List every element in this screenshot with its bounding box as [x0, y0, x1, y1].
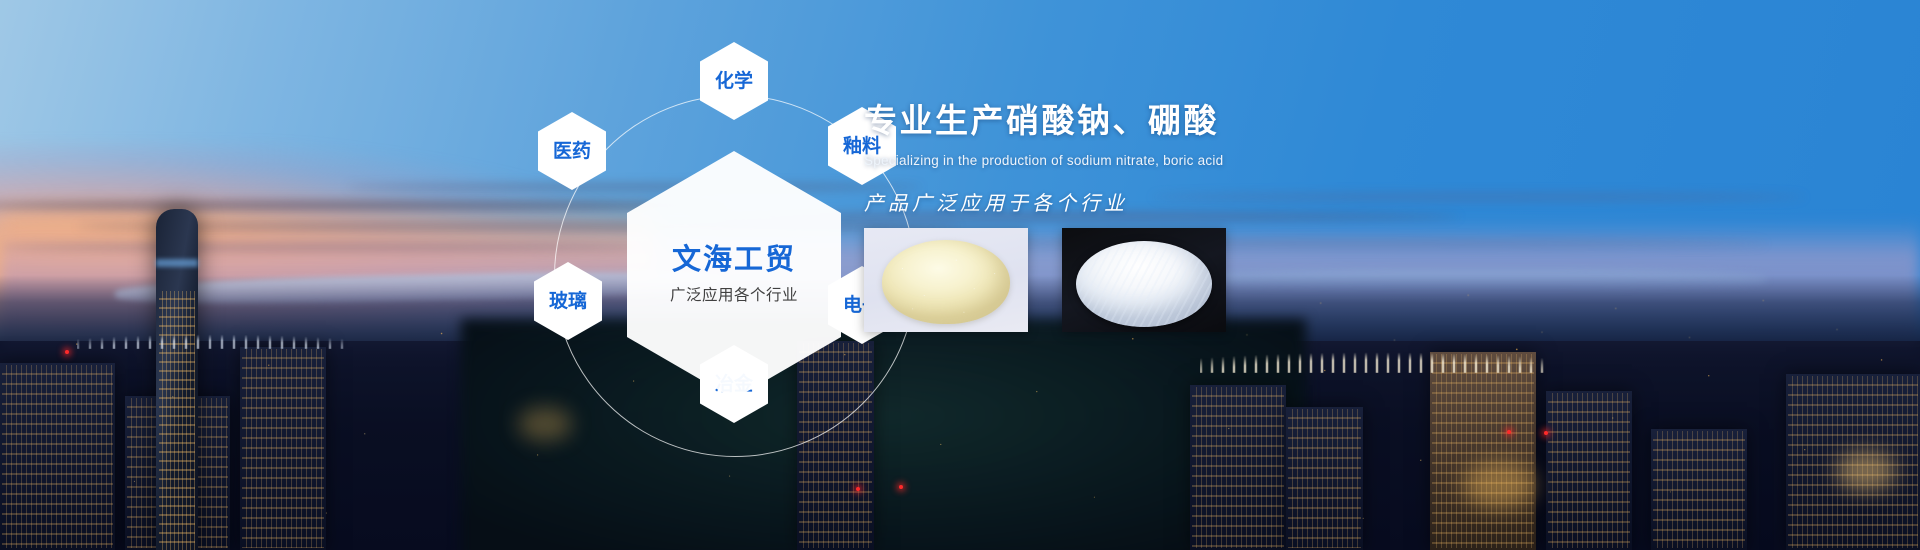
antenna-red-light: [1544, 431, 1548, 435]
headline-chinese: 专业生产硝酸钠、硼酸: [864, 103, 1564, 140]
powder-pile: [1076, 241, 1212, 327]
product-photo-boric-acid: [1062, 228, 1226, 332]
tagline-chinese: 产品广泛应用于各个行业: [864, 187, 1564, 216]
bridge-lights: [1200, 349, 1546, 373]
light-glow: [1463, 462, 1535, 508]
tower-light-band: [156, 259, 198, 267]
light-glow: [1836, 451, 1896, 491]
product-photo-group: [864, 228, 1226, 332]
product-photo-sodium-nitrate: [864, 228, 1028, 332]
powder-pile: [882, 240, 1010, 324]
company-tagline: 广泛应用各个行业: [670, 288, 798, 304]
hex-node-label: 医药: [553, 142, 591, 161]
bridge-lights: [77, 333, 346, 349]
headline-english: Specializing in the production of sodium…: [864, 153, 1564, 168]
hex-node-label: 玻璃: [549, 292, 587, 311]
headline-block: 专业生产硝酸钠、硼酸 Specializing in the productio…: [864, 103, 1564, 216]
promotional-banner: 化学 医药 釉料 玻璃 电子 冶金 文海工贸 广泛应用各个行业 专业生产硝酸钠、…: [0, 0, 1920, 550]
hex-node-label: 化学: [715, 72, 753, 91]
company-name: 文海工贸: [672, 246, 796, 275]
